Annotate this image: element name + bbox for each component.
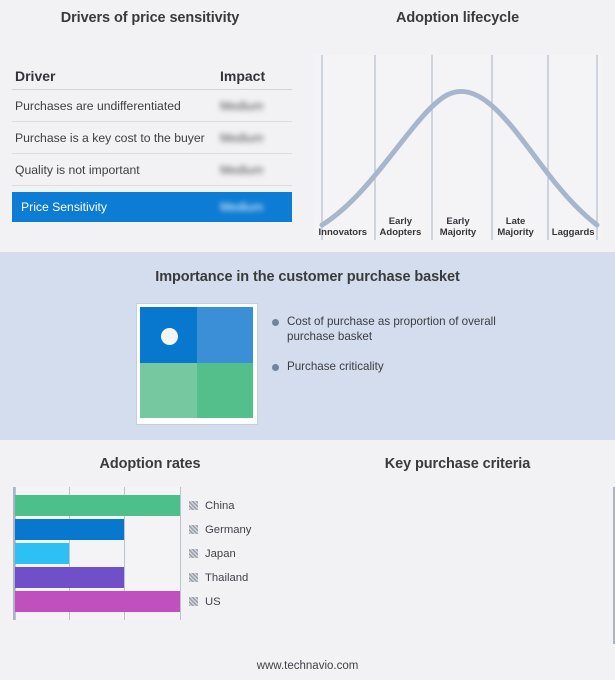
quadrant-matrix [137,304,257,424]
legend-label: Thailand [205,572,248,584]
bar-row [15,495,180,516]
bar-row [15,591,180,612]
footer-url: www.technavio.com [0,660,615,672]
driver-label: Purchases are undifferentiated [15,99,220,113]
table-header-row: Driver Impact [12,62,292,90]
quadrant-bottom-right [197,363,254,419]
gridline [180,487,181,620]
basket-legend: Cost of purchase as proportion of overal… [272,314,572,389]
legend-label: US [205,596,221,608]
legend-swatch-icon [189,597,198,606]
bullet-dot-icon [272,319,279,326]
driver-label: Purchase is a key cost to the buyer [15,131,220,145]
lifecycle-label-laggards: Laggards [544,200,602,240]
driver-label: Price Sensitivity [21,200,220,214]
table-row-highlighted-price-sensitivity: Price Sensitivity Medium [12,192,292,222]
top-section: Drivers of price sensitivity Driver Impa… [0,0,615,252]
legend-label: Japan [205,548,236,560]
list-item: Purchase criticality [272,359,572,374]
lifecycle-label-early-adopters: EarlyAdopters [372,200,430,240]
table-row: Purchases are undifferentiated Medium [12,90,292,122]
impact-value: Medium [220,131,282,145]
lifecycle-panel-title: Adoption lifecycle [300,10,615,26]
mid-section-purchase-basket: Importance in the customer purchase bask… [0,252,615,440]
driver-label: Quality is not important [15,163,220,177]
list-item: Cost of purchase as proportion of overal… [272,314,572,344]
adoption-rates-title: Adoption rates [0,456,300,472]
drivers-panel-title: Drivers of price sensitivity [0,10,300,26]
basket-legend-label: Purchase criticality [287,359,384,374]
lifecycle-label-early-majority: EarlyMajority [429,200,487,240]
legend-item: Germany [189,519,251,540]
legend-swatch-icon [189,549,198,558]
basket-panel-title: Importance in the customer purchase bask… [0,269,615,285]
position-dot-icon [161,328,178,345]
adoption-rates-plot-area [13,487,180,620]
bar-row [15,567,180,588]
bar-row [15,519,180,540]
legend-swatch-icon [189,525,198,534]
impact-value: Medium [220,99,282,113]
panel-adoption-rates: Adoption rates ChinaGermanyJapanThailand… [0,440,300,680]
bar-row [15,543,180,564]
legend-item: Thailand [189,567,251,588]
quadrant-bottom-left [140,363,197,419]
table-row: Quality is not important Medium [12,154,292,186]
quadrant-grid [140,307,253,418]
legend-item: China [189,495,251,516]
panel-key-purchase-criteria: Key purchase criteria InnovationPriceQua… [300,440,615,680]
quadrant-top-right [197,307,254,363]
bar [15,519,124,540]
bar [15,591,180,612]
bar [15,543,69,564]
bar [15,495,180,516]
bottom-section: Adoption rates ChinaGermanyJapanThailand… [0,440,615,680]
column-header-impact: Impact [220,68,282,84]
adoption-rates-bar-chart: ChinaGermanyJapanThailandUS [13,487,251,620]
adoption-rates-bars [15,487,180,620]
impact-value: Medium [220,200,282,214]
drivers-table: Driver Impact Purchases are undifferenti… [12,62,292,222]
impact-value: Medium [220,163,282,177]
panel-adoption-lifecycle: Adoption lifecycle Innovators EarlyAdopt… [300,0,615,252]
lifecycle-label-late-majority: LateMajority [487,200,545,240]
adoption-rates-legend: ChinaGermanyJapanThailandUS [189,487,251,620]
legend-label: China [205,500,235,512]
table-row: Purchase is a key cost to the buyer Medi… [12,122,292,154]
bar [15,567,124,588]
legend-swatch-icon [189,573,198,582]
legend-swatch-icon [189,501,198,510]
column-header-driver: Driver [15,68,220,84]
basket-legend-label: Cost of purchase as proportion of overal… [287,314,502,344]
infographic-page: Drivers of price sensitivity Driver Impa… [0,0,615,680]
panel-drivers-of-price-sensitivity: Drivers of price sensitivity Driver Impa… [0,0,300,252]
lifecycle-label-innovators: Innovators [314,200,372,240]
legend-label: Germany [205,524,251,536]
legend-item: US [189,591,251,612]
legend-item: Japan [189,543,251,564]
key-purchase-criteria-title: Key purchase criteria [300,456,615,472]
bullet-dot-icon [272,364,279,371]
lifecycle-segment-labels: Innovators EarlyAdopters EarlyMajority L… [314,200,602,240]
